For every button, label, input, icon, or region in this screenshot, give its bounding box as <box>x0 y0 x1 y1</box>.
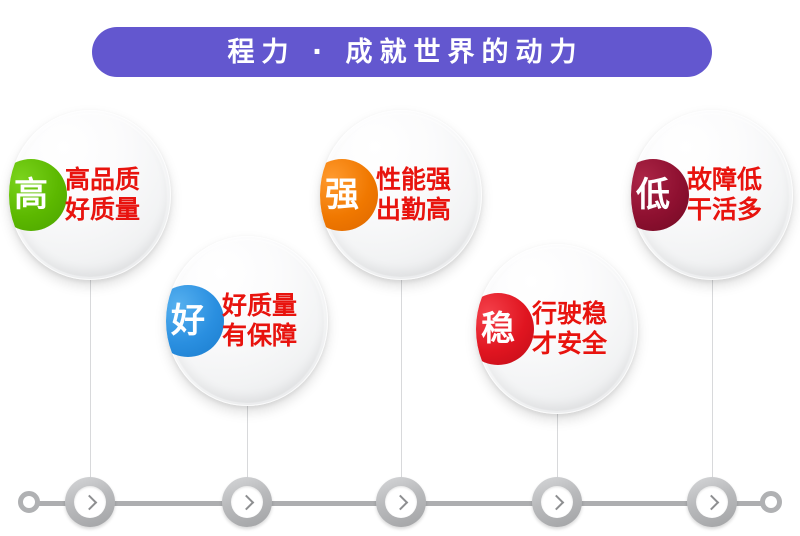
feature-bubble-2[interactable]: 好 好质量 有保障 <box>166 236 328 406</box>
badge-circle-3: 强 <box>320 159 378 231</box>
caption-line-2a: 好质量 <box>222 291 297 321</box>
feature-bubble-1[interactable]: 高 高品质 好质量 <box>9 110 171 280</box>
badge-circle-2: 好 <box>166 285 224 357</box>
timeline-node-5[interactable] <box>687 477 737 527</box>
bubble-caption-4: 行驶稳 才安全 <box>532 299 607 359</box>
caption-line-4a: 行驶稳 <box>532 299 607 329</box>
timeline-node-1[interactable] <box>65 477 115 527</box>
timeline-node-4[interactable] <box>532 477 582 527</box>
stem-connector-5 <box>712 272 713 504</box>
timeline-start-cap-icon <box>18 491 40 513</box>
stem-connector-3 <box>401 272 402 504</box>
caption-line-5b: 干活多 <box>687 195 762 225</box>
bubble-caption-5: 故障低 干活多 <box>687 165 762 225</box>
caption-line-3b: 出勤高 <box>376 195 451 225</box>
caption-line-2b: 有保障 <box>222 321 297 351</box>
badge-label-1: 高 <box>14 178 48 212</box>
feature-bubble-3[interactable]: 强 性能强 出勤高 <box>320 110 482 280</box>
chevron-right-icon <box>81 494 97 510</box>
stem-connector-1 <box>90 272 91 504</box>
caption-line-4b: 才安全 <box>532 329 607 359</box>
badge-circle-5: 低 <box>631 159 689 231</box>
node-inner-1 <box>74 486 106 518</box>
bubble-caption-3: 性能强 出勤高 <box>376 165 451 225</box>
bubble-caption-2: 好质量 有保障 <box>222 291 297 351</box>
chevron-right-icon <box>238 494 254 510</box>
badge-circle-4: 稳 <box>476 293 534 365</box>
timeline-end-cap-icon <box>760 491 782 513</box>
node-inner-4 <box>541 486 573 518</box>
bubble-caption-1: 高品质 好质量 <box>65 165 140 225</box>
caption-line-1a: 高品质 <box>65 165 140 195</box>
chevron-right-icon <box>392 494 408 510</box>
badge-label-4: 稳 <box>481 312 515 346</box>
node-inner-5 <box>696 486 728 518</box>
badge-label-2: 好 <box>171 304 205 338</box>
badge-label-3: 强 <box>325 178 359 212</box>
node-inner-3 <box>385 486 417 518</box>
page-title: 程力 · 成就世界的动力 <box>220 39 583 66</box>
feature-bubble-4[interactable]: 稳 行驶稳 才安全 <box>476 244 638 414</box>
chevron-right-icon <box>703 494 719 510</box>
caption-line-5a: 故障低 <box>687 165 762 195</box>
timeline-node-2[interactable] <box>222 477 272 527</box>
badge-circle-1: 高 <box>9 159 67 231</box>
node-inner-2 <box>231 486 263 518</box>
title-banner: 程力 · 成就世界的动力 <box>92 27 712 77</box>
badge-label-5: 低 <box>636 178 670 212</box>
caption-line-1b: 好质量 <box>65 195 140 225</box>
caption-line-3a: 性能强 <box>376 165 451 195</box>
timeline-node-3[interactable] <box>376 477 426 527</box>
chevron-right-icon <box>548 494 564 510</box>
feature-bubble-5[interactable]: 低 故障低 干活多 <box>631 110 793 280</box>
